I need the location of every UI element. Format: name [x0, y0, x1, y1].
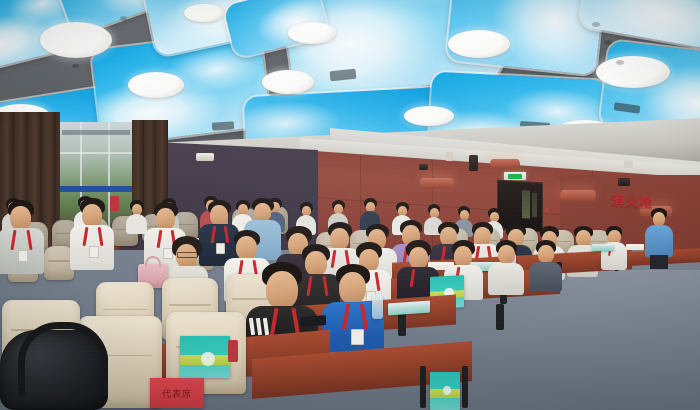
wall-switch-plate[interactable] [624, 161, 633, 168]
document-stack [592, 244, 614, 251]
ceiling-vent [212, 121, 235, 131]
water-bottle [372, 294, 383, 319]
ceiling-downlight [40, 22, 112, 58]
red-item-behind-folder [228, 340, 238, 362]
exit-sign-glyph [508, 174, 522, 179]
ceiling-projector [196, 153, 214, 161]
wall-speaker [419, 164, 428, 170]
held-phone [110, 196, 119, 211]
backpack-strap [18, 322, 108, 400]
conference-hall-photograph: 消火栓 [0, 0, 700, 410]
desk-leg [462, 366, 468, 408]
wall-speaker [469, 155, 478, 171]
ceiling-downlight [404, 106, 454, 126]
trousers [650, 255, 668, 269]
wall-sconce [560, 190, 596, 202]
window-track [62, 130, 130, 135]
desk-leg [420, 366, 426, 408]
window-blue-band [56, 186, 136, 192]
wall-speaker [618, 178, 630, 186]
ceiling-downlight [288, 22, 336, 44]
eyeglasses [177, 252, 198, 258]
ceiling-downlight [128, 72, 184, 98]
fire-hydrant-wall-text: 消火栓 [611, 195, 653, 210]
door-indicator-light [545, 208, 549, 212]
ceiling-sensor-dot [592, 22, 600, 27]
conference-folder [180, 336, 230, 378]
ceiling-downlight [184, 4, 224, 22]
ceiling-sensor-dot [72, 64, 79, 68]
wall-sconce [490, 159, 520, 169]
ceiling-sensor-dot [616, 60, 624, 65]
ceiling-downlight [596, 56, 670, 88]
conference-folder [430, 372, 460, 410]
desk-leg [496, 304, 504, 330]
wall-sconce [420, 178, 454, 189]
ceiling-sensor-dot [604, 40, 612, 45]
exit-sign [504, 172, 526, 180]
ceiling-downlight [448, 30, 510, 58]
handout-papers [626, 244, 644, 250]
ceiling-sensor-dot [120, 16, 127, 21]
ceiling-downlight [262, 70, 314, 94]
wall-switch-plate[interactable] [446, 152, 453, 161]
name-placard: 代表席 [150, 378, 204, 408]
